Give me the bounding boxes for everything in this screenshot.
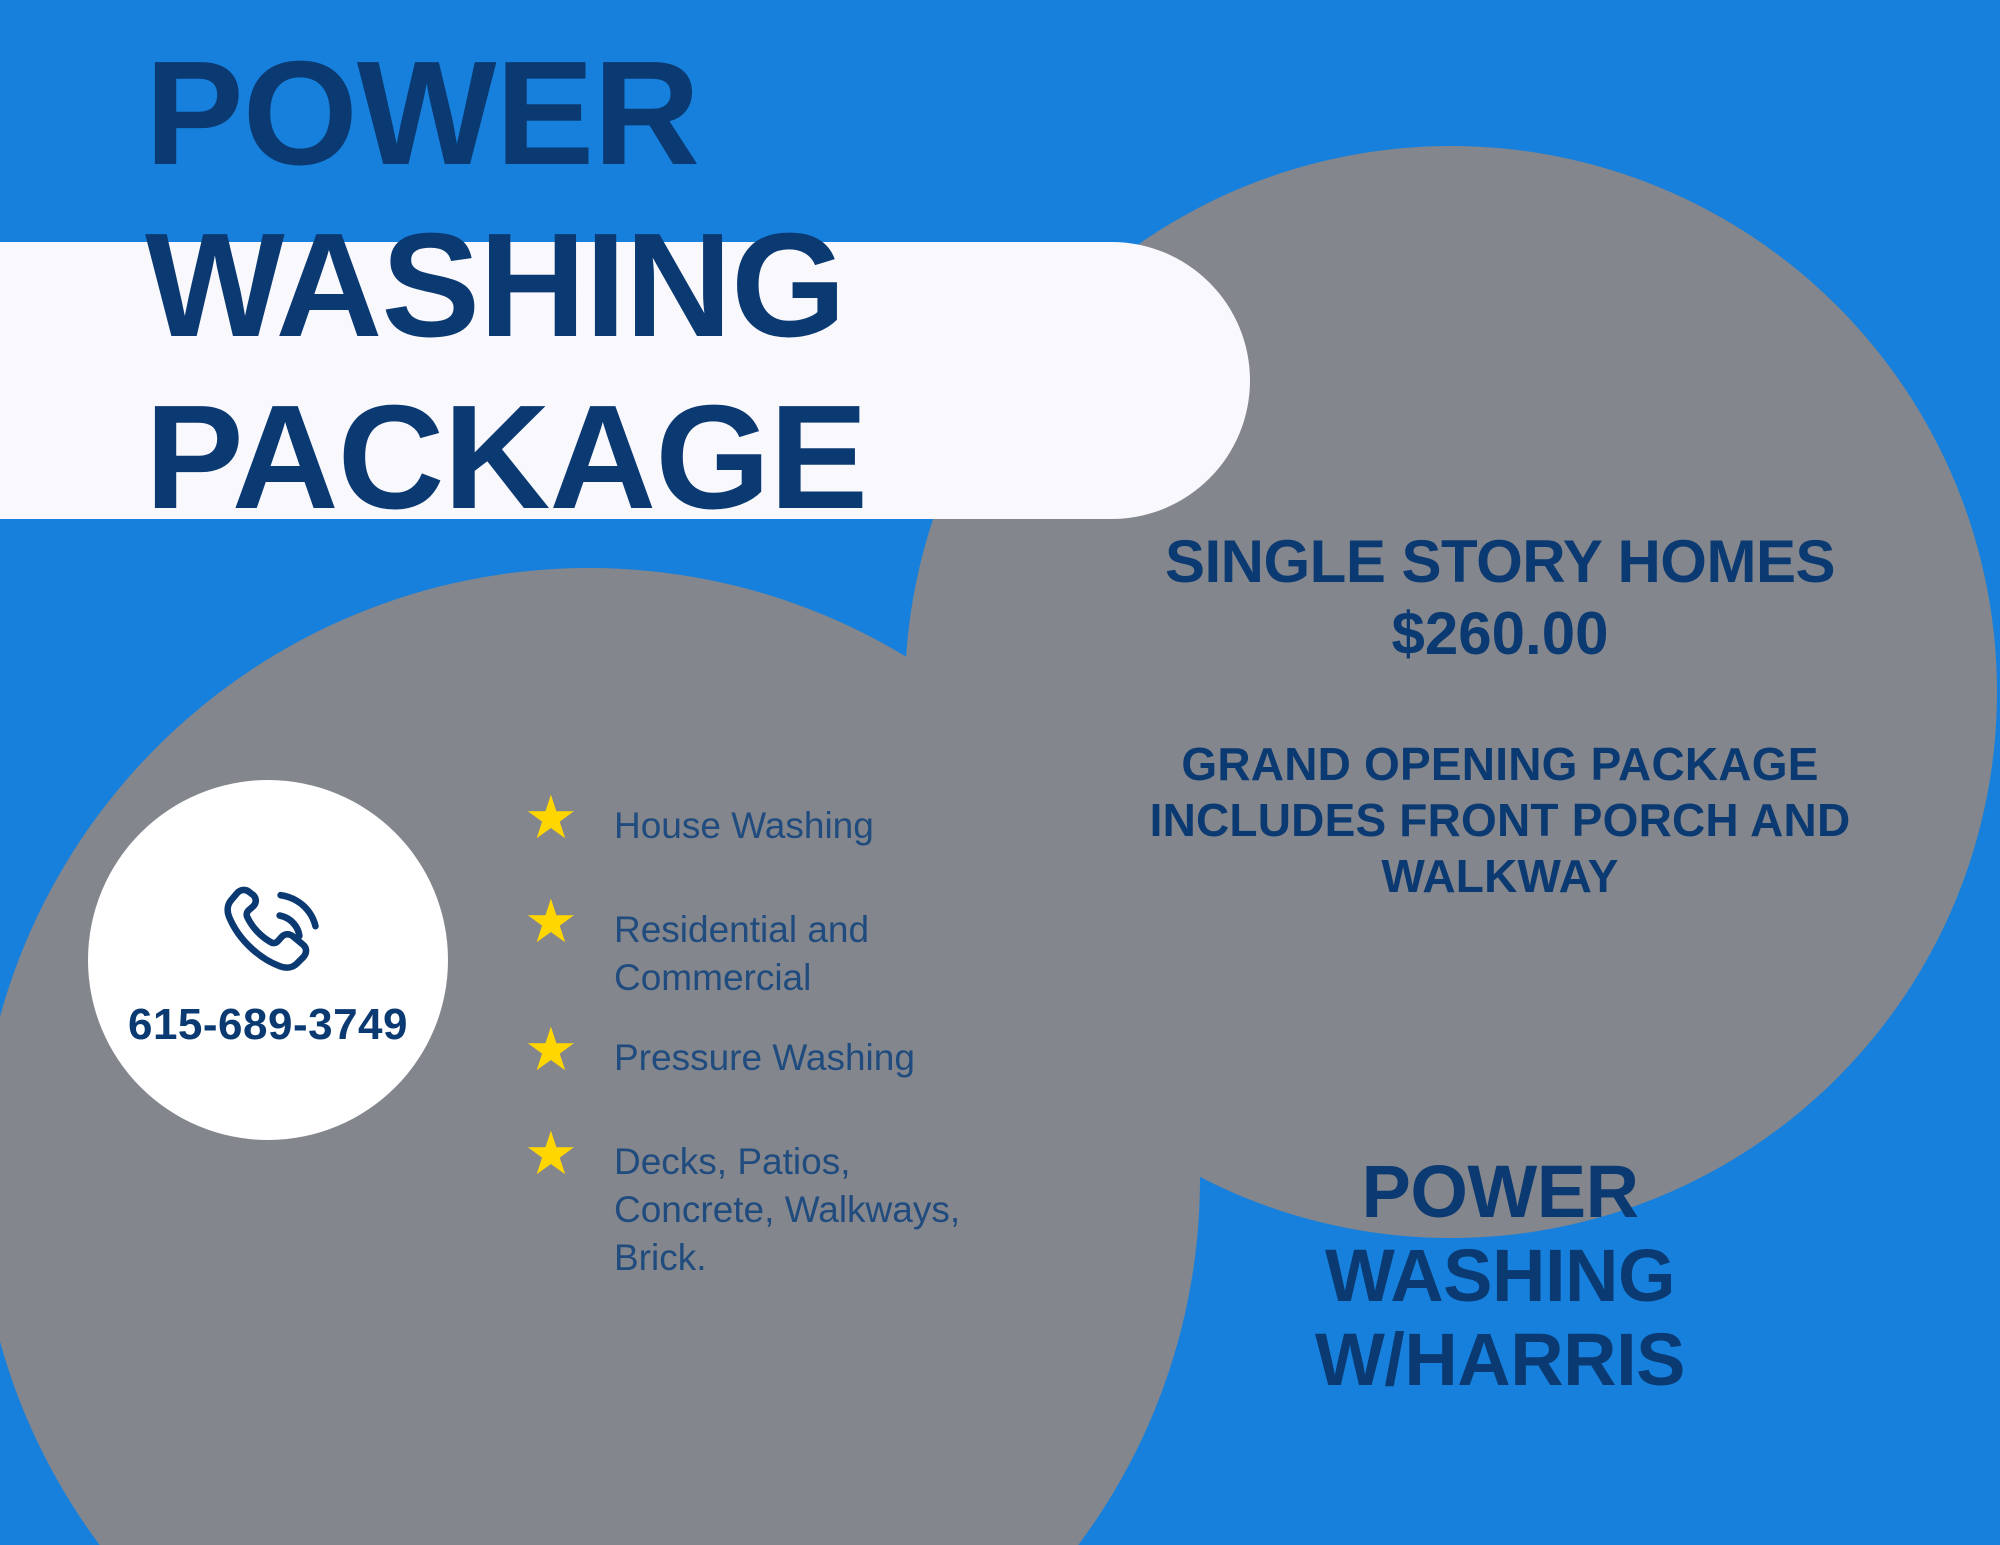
service-label: Pressure Washing — [614, 1024, 994, 1082]
offer-headline: SINGLE STORY HOMES — [1130, 526, 1870, 598]
offer-price: $260.00 — [1130, 598, 1870, 670]
offer-details: GRAND OPENING PACKAGE INCLUDES FRONT POR… — [1130, 736, 1870, 904]
star-icon: ★ — [524, 1128, 578, 1182]
star-icon: ★ — [524, 792, 578, 846]
service-label: Decks, Patios, Concrete, Walkways, Brick… — [614, 1128, 994, 1282]
phone-ringing-icon — [206, 870, 330, 994]
phone-badge[interactable]: 615-689-3749 — [88, 780, 448, 1140]
offer-block: SINGLE STORY HOMES $260.00 GRAND OPENING… — [1130, 526, 1870, 904]
star-icon: ★ — [524, 896, 578, 950]
list-item: ★ Residential and Commercial — [524, 896, 994, 1002]
brand-name: POWER WASHING W/HARRIS — [1120, 1150, 1880, 1402]
brand-line-1: POWER — [1120, 1150, 1880, 1234]
phone-number: 615-689-3749 — [128, 1000, 408, 1050]
headline-line-1: POWER — [145, 28, 1245, 200]
service-label: Residential and Commercial — [614, 896, 994, 1002]
power-washing-flyer: POWER WASHING PACKAGE 615-689-3749 ★ Hou… — [0, 0, 2000, 1545]
star-icon: ★ — [524, 1024, 578, 1078]
headline-line-3: PACKAGE — [145, 372, 1245, 544]
list-item: ★ Decks, Patios, Concrete, Walkways, Bri… — [524, 1128, 994, 1282]
page-title: POWER WASHING PACKAGE — [145, 28, 1245, 544]
brand-line-3: W/HARRIS — [1120, 1318, 1880, 1402]
brand-line-2: WASHING — [1120, 1234, 1880, 1318]
list-item: ★ House Washing — [524, 792, 994, 874]
headline-line-2: WASHING — [145, 200, 1245, 372]
service-label: House Washing — [614, 792, 994, 850]
list-item: ★ Pressure Washing — [524, 1024, 994, 1106]
service-list: ★ House Washing ★ Residential and Commer… — [524, 792, 994, 1304]
